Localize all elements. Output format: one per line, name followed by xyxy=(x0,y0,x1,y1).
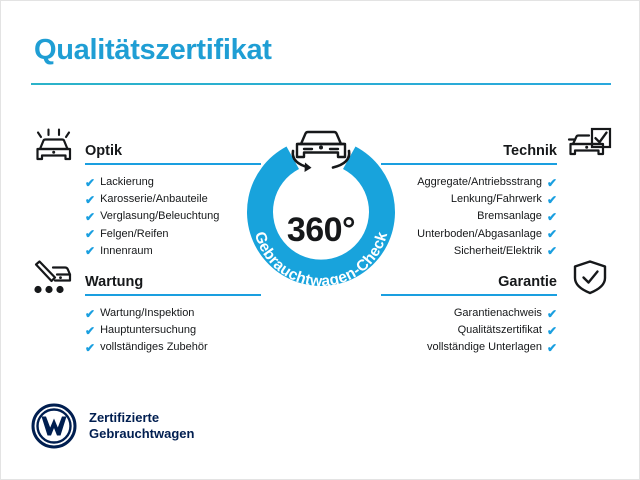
qualitaetszertifikat-poster: Qualitätszertifikat xyxy=(0,0,640,480)
list-item-label: Aggregate/Antriebsstrang xyxy=(417,177,542,188)
list-item: ✔ Lackierung xyxy=(29,174,261,191)
car-checkbox-icon xyxy=(567,127,613,165)
list-item-label: Hauptuntersuchung xyxy=(100,325,196,336)
checklist-technik: Aggregate/Antriebsstrang ✔ Lenkung/Fahrw… xyxy=(381,165,613,260)
car-rotation-icon xyxy=(293,132,349,172)
list-item-label: Lenkung/Fahrwerk xyxy=(451,194,542,205)
wrench-car-icon xyxy=(29,258,75,296)
list-item: Lenkung/Fahrwerk ✔ xyxy=(381,191,613,208)
check-icon: ✔ xyxy=(85,211,95,223)
checklist-garantie: Garantienachweis ✔ Qualitätszertifikat ✔… xyxy=(381,296,613,357)
section-wartung: Wartung ✔ Wartung/Inspektion ✔ Hauptunte… xyxy=(29,262,261,357)
footer-line-2: Gebrauchtwagen xyxy=(89,426,194,442)
section-title-technik: Technik xyxy=(503,143,557,159)
check-icon: ✔ xyxy=(547,177,557,189)
list-item-label: vollständiges Zubehör xyxy=(100,342,208,353)
section-technik: Technik Aggregate/Antriebsstrang ✔ Lenku… xyxy=(381,131,613,260)
list-item: ✔ Karosserie/Anbauteile xyxy=(29,191,261,208)
footer-line-1: Zertifizierte xyxy=(89,410,194,426)
badge-degrees-label: 360° xyxy=(229,211,413,250)
check-icon: ✔ xyxy=(547,194,557,206)
list-item: ✔ Verglasung/Beleuchtung xyxy=(29,208,261,225)
page-title: Qualitätszertifikat xyxy=(34,34,272,67)
section-header-wartung: Wartung xyxy=(29,262,261,296)
check-icon: ✔ xyxy=(547,245,557,257)
check-icon: ✔ xyxy=(85,228,95,240)
list-item-label: Lackierung xyxy=(100,177,154,188)
list-item: Unterboden/Abgasanlage ✔ xyxy=(381,226,613,243)
list-item: ✔ Wartung/Inspektion xyxy=(29,305,261,322)
header-divider xyxy=(31,83,611,85)
list-item-label: Karosserie/Anbauteile xyxy=(100,194,208,205)
section-title-garantie: Garantie xyxy=(498,274,557,290)
footer-text: Zertifizierte Gebrauchtwagen xyxy=(89,410,194,442)
list-item: Bremsanlage ✔ xyxy=(381,208,613,225)
check-icon: ✔ xyxy=(85,342,95,354)
list-item-label: Innenraum xyxy=(100,246,153,257)
list-item-label: Felgen/Reifen xyxy=(100,229,169,240)
check-icon: ✔ xyxy=(547,211,557,223)
footer-branding: Zertifizierte Gebrauchtwagen xyxy=(31,403,194,449)
section-optik: Optik ✔ Lackierung ✔ Karosserie/Anbautei… xyxy=(29,131,261,260)
list-item: vollständige Unterlagen ✔ xyxy=(381,339,613,356)
list-item-label: Bremsanlage xyxy=(477,211,542,222)
check-icon: ✔ xyxy=(547,342,557,354)
list-item: Aggregate/Antriebsstrang ✔ xyxy=(381,174,613,191)
vw-logo xyxy=(31,403,77,449)
checklist-optik: ✔ Lackierung ✔ Karosserie/Anbauteile ✔ V… xyxy=(29,165,261,260)
section-header-garantie: Garantie xyxy=(381,262,613,296)
check-icon: ✔ xyxy=(85,245,95,257)
list-item-label: Wartung/Inspektion xyxy=(100,308,194,319)
list-item: ✔ vollständiges Zubehör xyxy=(29,339,261,356)
check-icon: ✔ xyxy=(85,325,95,337)
check-icon: ✔ xyxy=(85,194,95,206)
car-shine-icon xyxy=(29,127,75,165)
list-item-label: Qualitätszertifikat xyxy=(458,325,542,336)
list-item-label: Verglasung/Beleuchtung xyxy=(100,211,219,222)
section-title-wartung: Wartung xyxy=(85,274,143,290)
section-title-optik: Optik xyxy=(85,143,122,159)
list-item: Qualitätszertifikat ✔ xyxy=(381,322,613,339)
list-item: ✔ Hauptuntersuchung xyxy=(29,322,261,339)
list-item: Garantienachweis ✔ xyxy=(381,305,613,322)
list-item-label: Unterboden/Abgasanlage xyxy=(417,229,542,240)
list-item-label: Sicherheit/Elektrik xyxy=(454,246,542,257)
check-icon: ✔ xyxy=(85,308,95,320)
section-header-technik: Technik xyxy=(381,131,613,165)
check-icon: ✔ xyxy=(547,325,557,337)
badge-360-gebrauchtwagen-check: Gebrauchtwagen-Check 360° xyxy=(229,119,413,303)
check-icon: ✔ xyxy=(547,228,557,240)
section-garantie: Garantie Garantienachweis ✔ Qualitätszer… xyxy=(381,262,613,357)
shield-check-icon xyxy=(567,258,613,296)
checklist-wartung: ✔ Wartung/Inspektion ✔ Hauptuntersuchung… xyxy=(29,296,261,357)
check-icon: ✔ xyxy=(85,177,95,189)
list-item-label: Garantienachweis xyxy=(454,308,542,319)
list-item: ✔ Felgen/Reifen xyxy=(29,226,261,243)
check-icon: ✔ xyxy=(547,308,557,320)
list-item-label: vollständige Unterlagen xyxy=(427,342,542,353)
section-header-optik: Optik xyxy=(29,131,261,165)
